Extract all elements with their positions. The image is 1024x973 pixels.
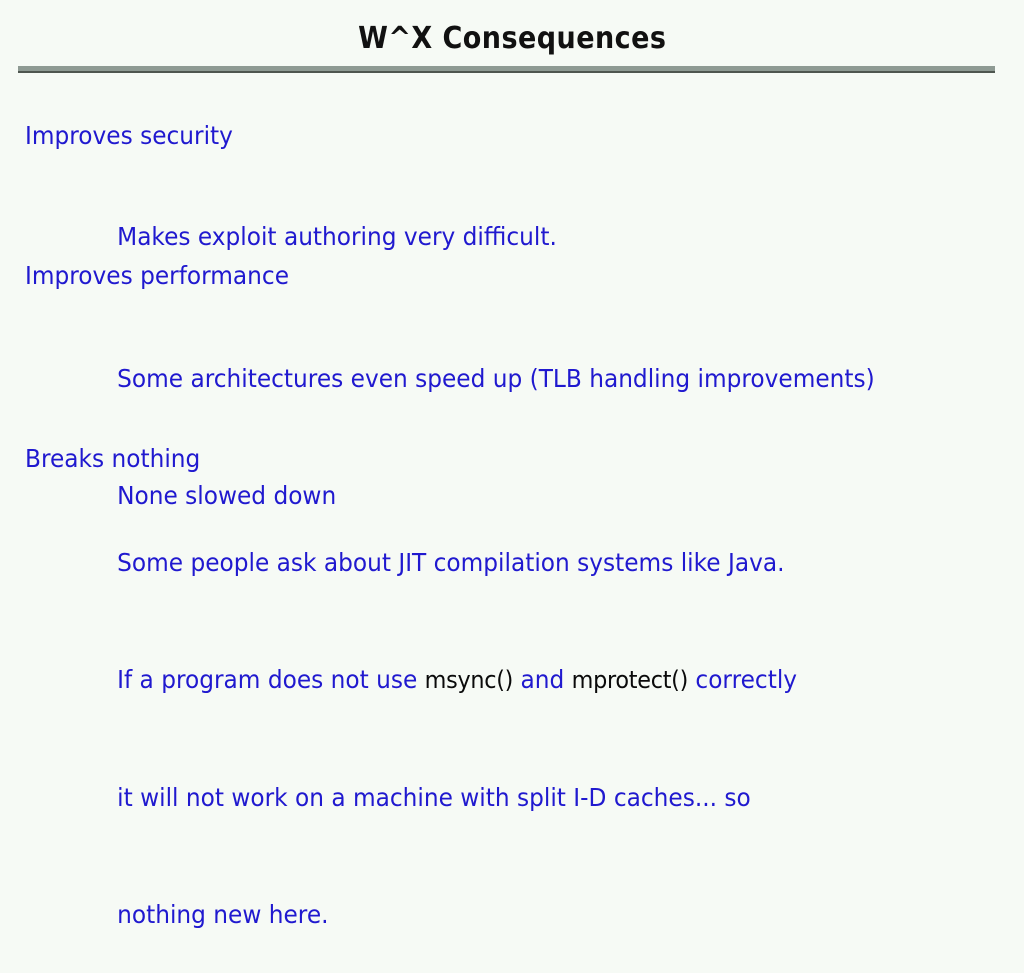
body-text: Some people ask about JIT compilation sy…: [117, 548, 784, 577]
slide-body: Improves security Makes exploit authorin…: [0, 0, 1024, 768]
section-heading-improves-security: Improves security: [25, 120, 233, 152]
body-text: it will not work on a machine with split…: [117, 783, 751, 812]
presentation-slide: W^X Consequences Improves security Makes…: [0, 0, 1024, 768]
code-token-mprotect: mprotect(): [572, 666, 688, 694]
section-body-breaks-nothing: Some people ask about JIT compilation sy…: [58, 504, 853, 973]
body-text: Makes exploit authoring very difficult.: [117, 222, 557, 251]
body-text: If a program does not use: [117, 665, 425, 694]
section-heading-improves-performance: Improves performance: [25, 260, 289, 292]
body-text: Some architectures even speed up (TLB ha…: [117, 364, 875, 393]
body-text: nothing new here.: [117, 900, 328, 929]
body-line: nothing new here.: [58, 856, 797, 973]
code-token-msync: msync(): [425, 666, 513, 694]
body-line: If a program does not use msync() and mp…: [58, 621, 797, 739]
body-line: it will not work on a machine with split…: [58, 739, 797, 856]
body-line: Some people ask about JIT compilation sy…: [58, 504, 797, 621]
body-line: Some architectures even speed up (TLB ha…: [58, 320, 875, 437]
body-text: and: [513, 665, 572, 694]
section-heading-breaks-nothing: Breaks nothing: [25, 443, 200, 475]
body-text: correctly: [688, 665, 797, 694]
